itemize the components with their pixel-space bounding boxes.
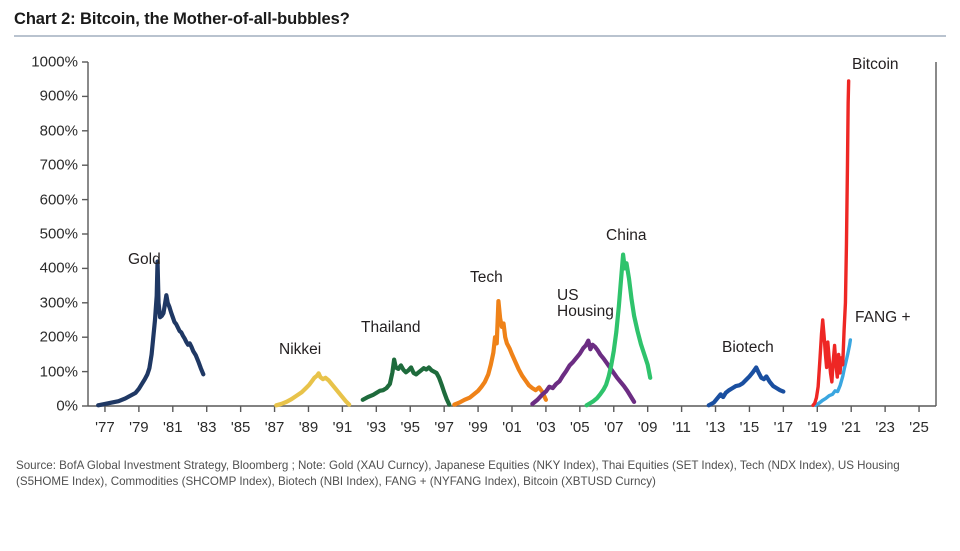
- series-label-us-housing: US Housing: [557, 288, 614, 321]
- series-line-nikkei: [276, 373, 349, 405]
- series-line-tech: [454, 301, 546, 405]
- y-axis-tick-label: 300%: [4, 294, 78, 311]
- series-label-us-housing-line2: Housing: [557, 304, 614, 320]
- series-label-nikkei: Nikkei: [279, 342, 321, 359]
- y-axis-tick-label: 500%: [4, 226, 78, 243]
- x-axis-tick-label: '25: [899, 419, 939, 436]
- series-line-bitcoin: [813, 81, 849, 405]
- series-line-china: [587, 255, 651, 406]
- series-label-gold: Gold: [128, 252, 161, 269]
- series-label-tech: Tech: [470, 270, 503, 287]
- y-axis-tick-label: 200%: [4, 329, 78, 346]
- series-line-biotech: [709, 367, 784, 405]
- y-axis-tick-label: 800%: [4, 122, 78, 139]
- y-axis-tick-label: 700%: [4, 157, 78, 174]
- y-axis-tick-label: 600%: [4, 191, 78, 208]
- series-label-fang: FANG +: [855, 310, 911, 327]
- series-label-bitcoin: Bitcoin: [852, 57, 899, 74]
- y-axis-tick-label: 900%: [4, 88, 78, 105]
- series-line-us-housing: [532, 341, 634, 404]
- source-note: Source: BofA Global Investment Strategy,…: [16, 458, 944, 491]
- series-label-us-housing-line1: US: [557, 288, 614, 304]
- y-axis-tick-label: 0%: [4, 398, 78, 415]
- series-line-gold: [98, 262, 203, 406]
- series-label-china: China: [606, 228, 647, 245]
- y-axis-tick-label: 1000%: [4, 54, 78, 71]
- y-axis-tick-label: 100%: [4, 363, 78, 380]
- chart-container: Chart 2: Bitcoin, the Mother-of-all-bubb…: [0, 0, 960, 551]
- y-axis-tick-label: 400%: [4, 260, 78, 277]
- series-label-biotech: Biotech: [722, 340, 774, 357]
- series-label-thailand: Thailand: [361, 320, 420, 337]
- series-line-thailand: [363, 360, 450, 405]
